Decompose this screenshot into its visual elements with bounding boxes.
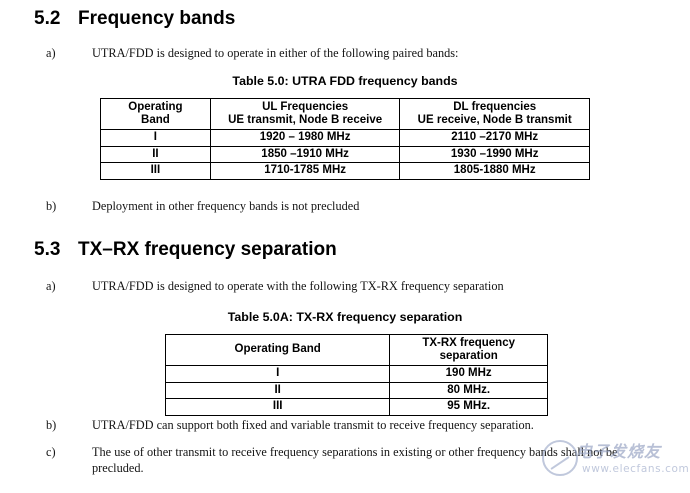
table-row: II 80 MHz. [166,382,548,399]
column-header-tx-rx-separation: TX-RX frequency separation [390,335,548,366]
list-item-5-3-a: a) UTRA/FDD is designed to operate with … [0,278,640,294]
list-marker: b) [0,198,46,214]
cell-dl: 1930 –1990 MHz [400,146,590,163]
list-marker: c) [0,444,46,476]
table-caption-5-0: Table 5.0: UTRA FDD frequency bands [0,74,690,88]
cell-band: I [166,366,390,383]
list-item-text: UTRA/FDD is designed to operate in eithe… [46,45,640,61]
column-header-line1: Operating [128,101,182,113]
cell-band: III [101,163,211,180]
table-row: III 95 MHz. [166,399,548,416]
section-heading-5-2: 5.2 Frequency bands [0,8,235,30]
cell-separation: 190 MHz [390,366,548,383]
cell-separation: 95 MHz. [390,399,548,416]
list-item-text: UTRA/FDD is designed to operate with the… [46,278,640,294]
column-header-line2: Band [103,114,208,127]
list-item-text: UTRA/FDD can support both fixed and vari… [46,417,640,433]
table-row: III 1710-1785 MHz 1805-1880 MHz [101,163,590,180]
table-row: I 1920 – 1980 MHz 2110 –2170 MHz [101,130,590,147]
list-marker: b) [0,417,46,433]
list-item-5-3-b: b) UTRA/FDD can support both fixed and v… [0,417,640,433]
list-marker: a) [0,45,46,61]
table-tx-rx-frequency-separation: Operating Band TX-RX frequency separatio… [165,334,548,416]
table-header-row: Operating Band UL Frequencies UE transmi… [101,99,590,130]
list-item-text: Deployment in other frequency bands is n… [46,198,640,214]
cell-separation: 80 MHz. [390,382,548,399]
table-header-row: Operating Band TX-RX frequency separatio… [166,335,548,366]
column-header-operating-band: Operating Band [166,335,390,366]
section-number: 5.3 [0,239,78,261]
cell-dl: 1805-1880 MHz [400,163,590,180]
list-item-5-2-a: a) UTRA/FDD is designed to operate in ei… [0,45,640,61]
cell-band: II [166,382,390,399]
section-title: Frequency bands [78,8,235,30]
table-row: I 190 MHz [166,366,548,383]
column-header-line1: UL Frequencies [262,101,348,113]
column-header-line2: UE receive, Node B transmit [402,114,587,127]
table-caption-5-0a: Table 5.0A: TX-RX frequency separation [0,310,690,324]
column-header-operating-band: Operating Band [101,99,211,130]
cell-ul: 1850 –1910 MHz [210,146,400,163]
list-item-5-3-c: c) The use of other transmit to receive … [0,444,620,476]
column-header-line2: UE transmit, Node B receive [213,114,398,127]
cell-ul: 1920 – 1980 MHz [210,130,400,147]
list-item-5-2-b: b) Deployment in other frequency bands i… [0,198,640,214]
cell-band: II [101,146,211,163]
cell-band: III [166,399,390,416]
list-item-text: The use of other transmit to receive fre… [46,444,620,476]
table-row: II 1850 –1910 MHz 1930 –1990 MHz [101,146,590,163]
document-page: 5.2 Frequency bands a) UTRA/FDD is desig… [0,0,690,493]
column-header-line1: DL frequencies [453,101,536,113]
cell-dl: 2110 –2170 MHz [400,130,590,147]
section-heading-5-3: 5.3 TX–RX frequency separation [0,239,337,261]
list-marker: a) [0,278,46,294]
column-header-dl-frequencies: DL frequencies UE receive, Node B transm… [400,99,590,130]
table-utra-fdd-frequency-bands: Operating Band UL Frequencies UE transmi… [100,98,590,180]
column-header-ul-frequencies: UL Frequencies UE transmit, Node B recei… [210,99,400,130]
section-number: 5.2 [0,8,78,30]
section-title: TX–RX frequency separation [78,239,337,261]
cell-ul: 1710-1785 MHz [210,163,400,180]
cell-band: I [101,130,211,147]
